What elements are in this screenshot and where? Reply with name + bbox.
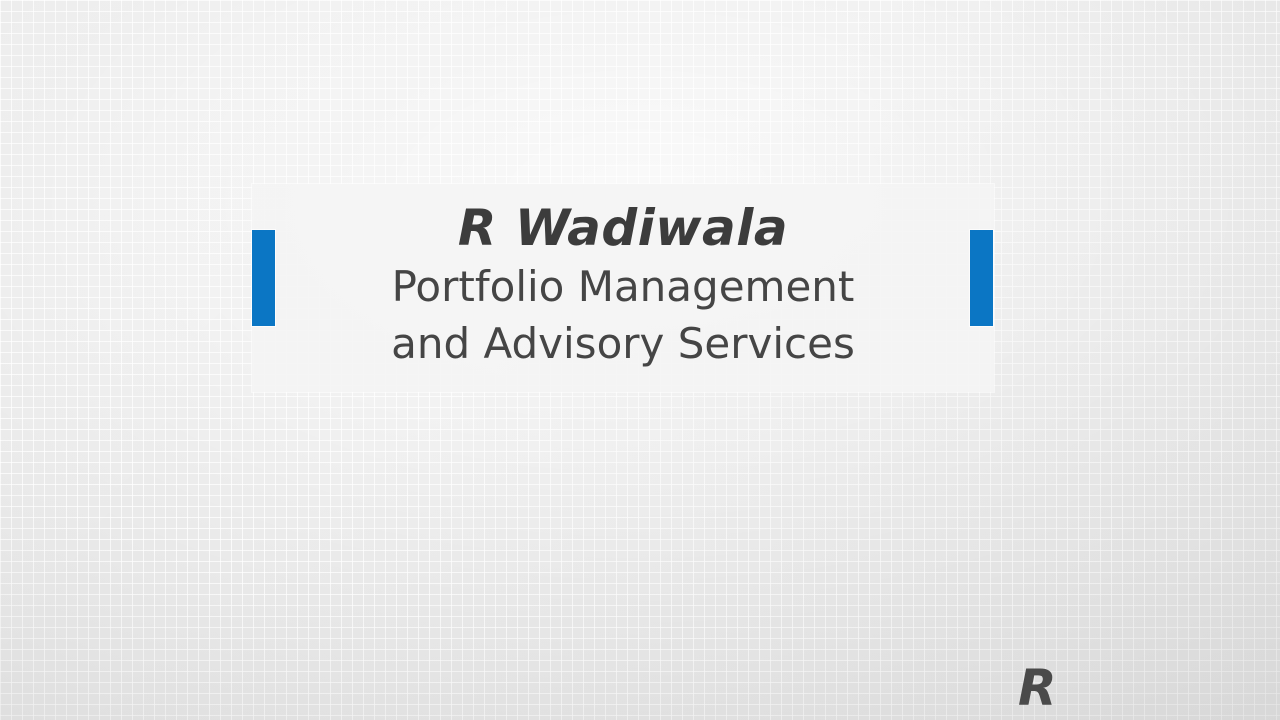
page-subtitle-line-1: Portfolio Management bbox=[391, 258, 855, 315]
page-title: R Wadiwala bbox=[458, 202, 788, 254]
page-subtitle: Portfolio Management and Advisory Servic… bbox=[391, 258, 855, 372]
title-text-block: R Wadiwala Portfolio Management and Advi… bbox=[252, 184, 994, 392]
corner-monogram-logo: R bbox=[1018, 663, 1057, 713]
title-slide: R Wadiwala Portfolio Management and Advi… bbox=[0, 0, 1280, 720]
page-subtitle-line-2: and Advisory Services bbox=[391, 315, 855, 372]
